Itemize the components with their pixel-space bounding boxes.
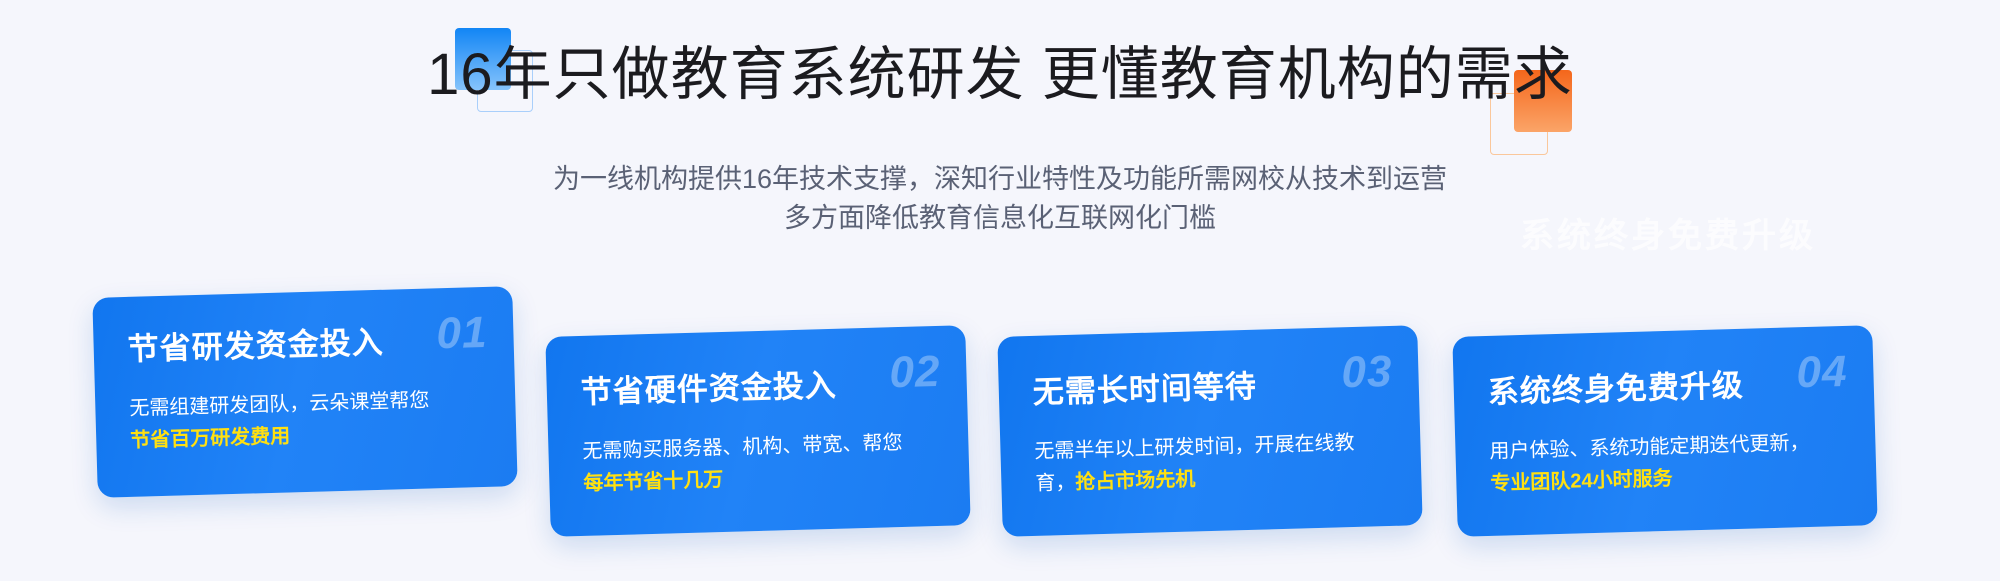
advantage-card-description-highlight: 每年节省十几万: [583, 469, 724, 495]
advantage-card-description-plain: 无需组建研发团队，云朵课堂帮您: [129, 390, 429, 420]
advantage-card-index: 04: [1796, 350, 1848, 395]
advantage-card-description-highlight: 专业团队24小时服务: [1490, 468, 1673, 495]
advantage-card-title: 无需长时间等待: [1032, 366, 1385, 410]
advantage-card-list: 节省研发资金投入 01 无需组建研发团队，云朵课堂帮您 节省百万研发费用 节省硬…: [0, 0, 2000, 581]
advantage-card-description-highlight: 节省百万研发费用: [130, 426, 291, 452]
advantage-card-index: 01: [436, 311, 488, 356]
advantage-card-description: 无需购买服务器、机构、带宽、帮您 每年节省十几万: [582, 427, 914, 501]
advantage-card-description: 无需半年以上研发时间，开展在线教育，抢占市场先机: [1034, 427, 1366, 501]
advantage-card[interactable]: 节省研发资金投入 01 无需组建研发团队，云朵课堂帮您 节省百万研发费用: [92, 286, 517, 498]
advantage-card-description-plain: 无需购买服务器、机构、带宽、帮您: [582, 432, 902, 463]
advantage-card-title: 节省硬件资金投入: [580, 366, 933, 410]
advantage-card-title: 节省研发资金投入: [127, 323, 480, 367]
advantage-card[interactable]: 系统终身免费升级 04 用户体验、系统功能定期迭代更新， 专业团队24小时服务: [1452, 325, 1877, 537]
hero-banner: 16年只做教育系统研发 更懂教育机构的需求 为一线机构提供16年技术支撑，深知行…: [0, 0, 2000, 581]
advantage-card-index: 03: [1341, 350, 1393, 395]
advantage-card-description: 无需组建研发团队，云朵课堂帮您 节省百万研发费用: [129, 384, 461, 458]
advantage-card-index: 02: [889, 350, 941, 395]
advantage-card[interactable]: 无需长时间等待 03 无需半年以上研发时间，开展在线教育，抢占市场先机: [997, 325, 1422, 537]
advantage-card[interactable]: 节省硬件资金投入 02 无需购买服务器、机构、带宽、帮您 每年节省十几万: [545, 325, 970, 537]
advantage-card-description-highlight: 抢占市场先机: [1075, 469, 1196, 494]
advantage-card-title: 系统终身免费升级: [1487, 366, 1840, 410]
advantage-card-description: 用户体验、系统功能定期迭代更新， 专业团队24小时服务: [1489, 427, 1821, 501]
advantage-card-description-plain: 用户体验、系统功能定期迭代更新，: [1489, 432, 1809, 463]
